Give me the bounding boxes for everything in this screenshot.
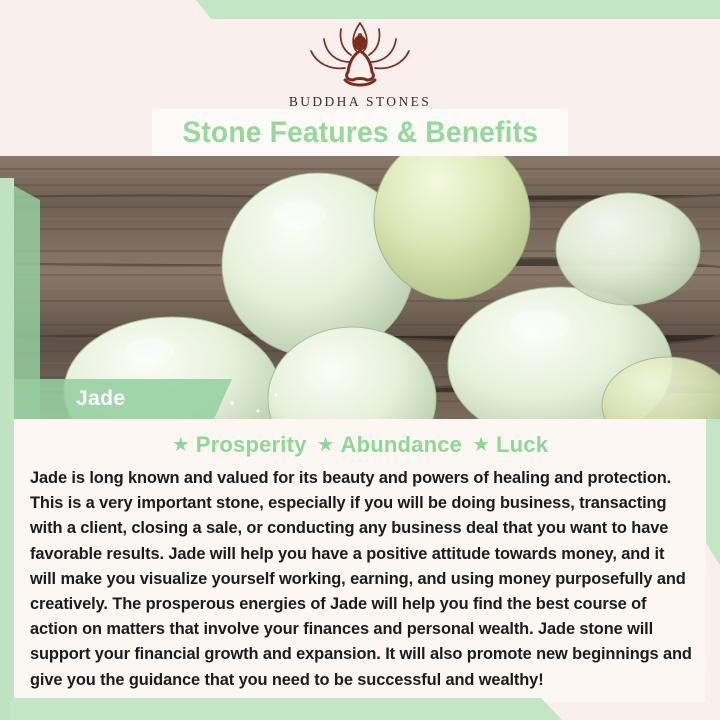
- hero-photo: Jade: [0, 155, 720, 419]
- benefit-item-luck: ★ Luck: [472, 432, 548, 458]
- brand-logo: BUDDHA STONES: [270, 18, 450, 110]
- page-title: Stone Features & Benefits: [182, 116, 538, 150]
- star-icon: ★: [172, 435, 190, 455]
- star-icon: ★: [472, 435, 490, 455]
- stone-description: Jade is long known and valued for its be…: [14, 458, 706, 693]
- page-title-band: Stone Features & Benefits: [152, 109, 568, 156]
- bottom-accent-band: [10, 698, 570, 720]
- benefit-label: Luck: [496, 432, 548, 458]
- lotus-meditation-icon: [301, 18, 419, 92]
- benefit-item-abundance: ★ Abundance: [317, 432, 463, 458]
- benefit-label: Prosperity: [196, 432, 307, 458]
- content-panel: ★ Prosperity ★ Abundance ★ Luck Jade is …: [14, 419, 706, 702]
- stone-name-label: Jade: [76, 387, 125, 411]
- left-accent-strip: [0, 178, 14, 720]
- benefits-row: ★ Prosperity ★ Abundance ★ Luck: [14, 419, 706, 458]
- benefit-item-prosperity: ★ Prosperity: [172, 432, 307, 458]
- brand-name: BUDDHA STONES: [270, 94, 450, 110]
- star-icon: ★: [317, 435, 335, 455]
- benefit-label: Abundance: [341, 432, 463, 458]
